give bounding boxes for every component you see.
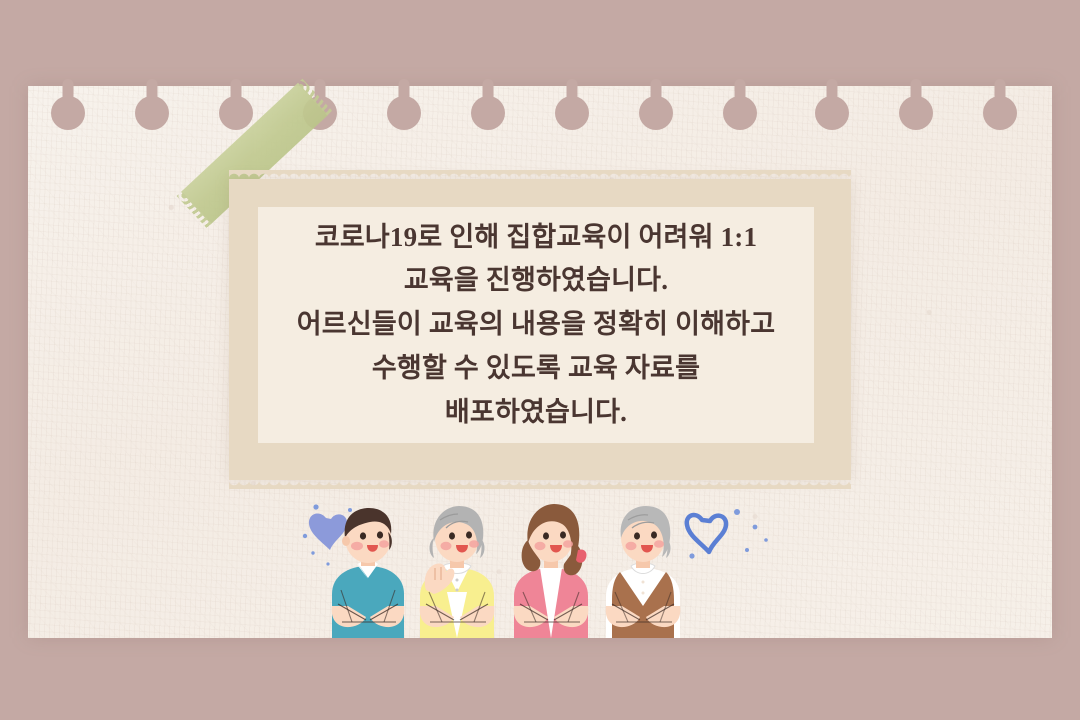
- four-people-illustration: [300, 494, 780, 638]
- binding-hole: [639, 96, 673, 130]
- slide-canvas: 코로나19로 인해 집합교육이 어려워 1:1 교육을 진행하였습니다. 어르신…: [0, 0, 1080, 720]
- figure-woman-yellow: [420, 506, 495, 638]
- binding-hole: [135, 96, 169, 130]
- message-panel: 코로나19로 인해 집합교육이 어려워 1:1 교육을 진행하였습니다. 어르신…: [258, 207, 814, 443]
- heart-icon-right: [687, 509, 768, 559]
- binding-hole: [219, 96, 253, 130]
- message-text: 코로나19로 인해 집합교육이 어려워 1:1 교육을 진행하였습니다. 어르신…: [258, 216, 814, 435]
- scallop-edge-top: [229, 170, 851, 179]
- binding-hole: [555, 96, 589, 130]
- binding-hole: [815, 96, 849, 130]
- binding-hole: [983, 96, 1017, 130]
- heart-icon-left: [303, 504, 352, 565]
- binding-hole: [471, 96, 505, 130]
- binding-hole: [899, 96, 933, 130]
- binding-hole: [723, 96, 757, 130]
- figure-man-vest: [606, 506, 681, 638]
- binding-hole: [387, 96, 421, 130]
- binding-hole: [51, 96, 85, 130]
- scallop-edge-bottom: [229, 480, 851, 489]
- figure-woman-pink: [514, 504, 589, 638]
